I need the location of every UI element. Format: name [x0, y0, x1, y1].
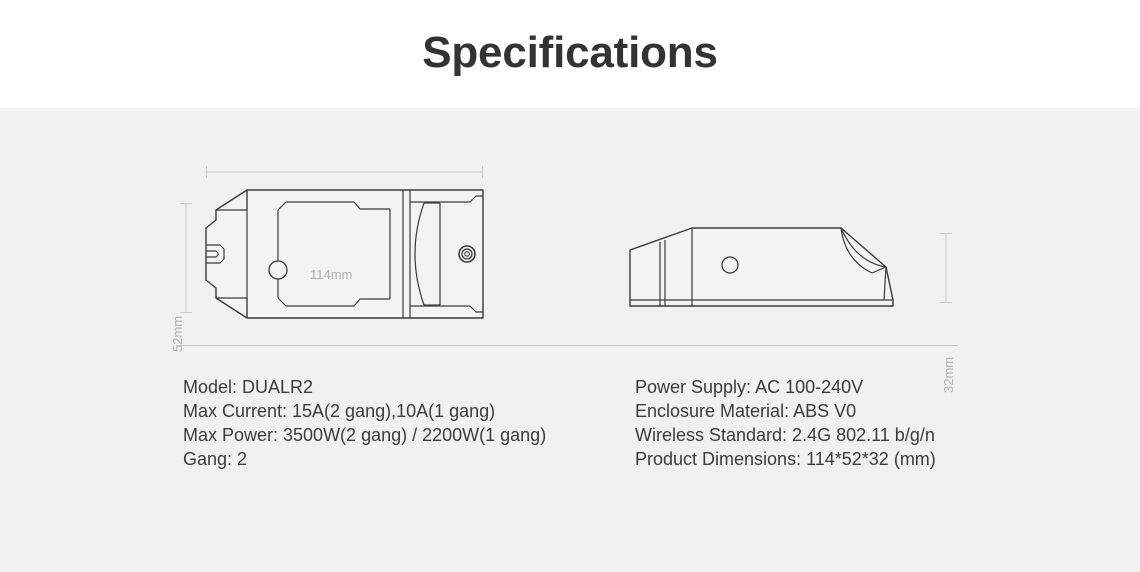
side-view-outline	[630, 228, 893, 306]
spec-line-wireless-standard: Wireless Standard: 2.4G 802.11 b/g/n	[635, 423, 936, 447]
side-view-drawing	[0, 110, 1140, 350]
side-view-port-hole	[722, 257, 738, 273]
spec-line-max-power: Max Power: 3500W(2 gang) / 2200W(1 gang)	[183, 423, 546, 447]
spec-column-left: Model: DUALR2 Max Current: 15A(2 gang),1…	[183, 375, 546, 471]
specifications-page: Specifications	[0, 0, 1140, 572]
spec-line-enclosure-material: Enclosure Material: ABS V0	[635, 399, 936, 423]
spec-line-max-current: Max Current: 15A(2 gang),10A(1 gang)	[183, 399, 546, 423]
page-header: Specifications	[0, 0, 1140, 110]
spec-line-product-dimensions: Product Dimensions: 114*52*32 (mm)	[635, 447, 936, 471]
dimension-label-width: 114mm	[310, 267, 352, 282]
spec-column-right: Power Supply: AC 100-240V Enclosure Mate…	[635, 375, 936, 471]
page-title: Specifications	[0, 25, 1140, 81]
spec-line-model: Model: DUALR2	[183, 375, 546, 399]
dimension-line-32mm	[940, 233, 952, 303]
spec-line-power-supply: Power Supply: AC 100-240V	[635, 375, 936, 399]
dimension-label-height: 32mm	[941, 357, 956, 393]
spec-line-gang: Gang: 2	[183, 447, 546, 471]
product-drawings: 114mm 52mm 32mm	[0, 110, 1140, 350]
dimension-label-depth: 52mm	[170, 316, 185, 352]
spec-divider	[176, 345, 958, 346]
header-divider	[0, 108, 1140, 109]
